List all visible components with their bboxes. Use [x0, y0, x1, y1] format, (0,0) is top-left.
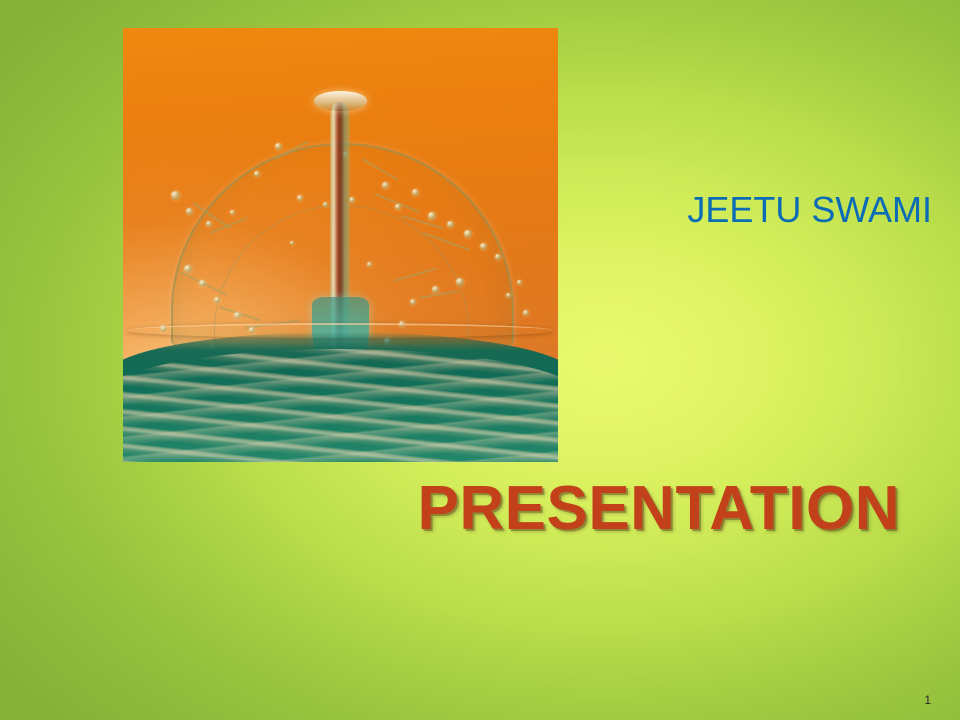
water-ripples — [123, 349, 558, 462]
water-droplet — [506, 293, 511, 298]
water-droplet — [480, 243, 487, 250]
slide-number: 1 — [924, 694, 931, 706]
water-droplet — [171, 191, 180, 200]
water-droplet — [254, 171, 260, 177]
subtitle-text[interactable]: JEETU SWAMI — [372, 190, 932, 230]
title-slide: JEETU SWAMI PRESENTATION 1 — [0, 0, 960, 720]
water-droplet — [206, 221, 212, 227]
water-splash-photo[interactable] — [123, 28, 558, 462]
water-droplet — [323, 202, 328, 207]
page-title[interactable]: PRESENTATION — [0, 476, 900, 543]
water-droplet — [517, 280, 522, 285]
water-droplet — [495, 254, 501, 260]
water-droplet — [184, 265, 192, 273]
water-jet-cap — [314, 91, 366, 111]
water-droplet — [199, 280, 206, 287]
water-droplet — [456, 278, 464, 286]
water-droplet — [382, 182, 389, 189]
water-droplet — [230, 210, 235, 215]
